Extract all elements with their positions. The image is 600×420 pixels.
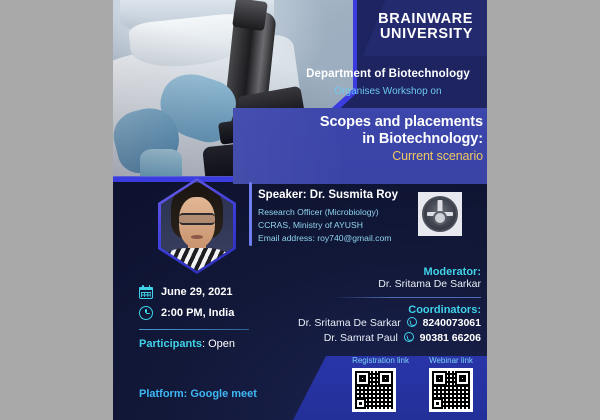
speaker-name: Speaker: Dr. Susmita Roy bbox=[258, 189, 398, 201]
screenshot-canvas: BRAINWARE UNIVERSITY Department of Biote… bbox=[0, 0, 600, 420]
registration-link[interactable]: Registration link bbox=[352, 356, 409, 412]
links-area: Registration link Webinar link bbox=[352, 356, 473, 412]
schedule-block: June 29, 2021 2:00 PM, India Participant… bbox=[139, 285, 299, 350]
speaker-email: Email address: roy740@gmail.com bbox=[258, 232, 391, 245]
title-line-2: in Biotechnology: bbox=[362, 131, 483, 147]
title-subtitle: Current scenario bbox=[273, 149, 483, 164]
organisers-block: Moderator: Dr. Sritama De Sarkar Coordin… bbox=[273, 266, 481, 346]
workshop-title: Scopes and placements in Biotechnology: … bbox=[273, 114, 483, 164]
phone-icon bbox=[407, 317, 417, 327]
speaker-accent-bar bbox=[249, 182, 252, 246]
participants-divider bbox=[139, 329, 249, 330]
platform-text: Platform: Google meet bbox=[139, 388, 257, 400]
registration-link-caption: Registration link bbox=[352, 356, 409, 365]
ccras-emblem-icon bbox=[418, 192, 462, 236]
speaker-designation: Research Officer (Microbiology) bbox=[258, 206, 391, 219]
speaker-affiliation: CCRAS, Ministry of AYUSH bbox=[258, 219, 391, 232]
speaker-details: Research Officer (Microbiology) CCRAS, M… bbox=[258, 206, 391, 245]
moderator-name: Dr. Sritama De Sarkar bbox=[273, 278, 481, 290]
clock-icon bbox=[139, 306, 153, 320]
phone-icon bbox=[404, 332, 414, 342]
speaker-photo bbox=[158, 178, 236, 274]
organises-subtitle: Organises Workshop on bbox=[293, 86, 483, 97]
event-time: 2:00 PM, India bbox=[161, 307, 234, 319]
participants-label: Participants bbox=[139, 338, 202, 350]
coordinator-row: Dr. Sritama De Sarkar 8240073061 bbox=[273, 316, 481, 331]
department-title: Department of Biotechnology bbox=[293, 68, 483, 80]
coordinator-name: Dr. Sritama De Sarkar bbox=[298, 317, 401, 329]
webinar-link-caption: Webinar link bbox=[429, 356, 473, 365]
date-row: June 29, 2021 bbox=[139, 285, 299, 299]
registration-qr-code-icon[interactable] bbox=[352, 368, 396, 412]
webinar-qr-code-icon[interactable] bbox=[429, 368, 473, 412]
brand-line-1: BRAINWARE bbox=[378, 12, 473, 27]
calendar-icon bbox=[139, 285, 153, 299]
brand-line-2: UNIVERSITY bbox=[378, 27, 473, 42]
coordinator-row: Dr. Samrat Paul 90381 66206 bbox=[273, 331, 481, 346]
workshop-poster: BRAINWARE UNIVERSITY Department of Biote… bbox=[113, 0, 487, 420]
coordinator-phone: 8240073061 bbox=[423, 317, 481, 329]
participants-row: Participants: Open bbox=[139, 338, 299, 350]
coordinators-label: Coordinators: bbox=[273, 304, 481, 316]
event-date: June 29, 2021 bbox=[161, 286, 233, 298]
organisers-divider bbox=[331, 297, 481, 298]
university-logo: BRAINWARE UNIVERSITY bbox=[378, 12, 473, 41]
moderator-label: Moderator: bbox=[273, 266, 481, 278]
coordinator-phone: 90381 66206 bbox=[420, 332, 481, 344]
coordinator-name: Dr. Samrat Paul bbox=[324, 332, 398, 344]
webinar-link[interactable]: Webinar link bbox=[429, 356, 473, 412]
time-row: 2:00 PM, India bbox=[139, 306, 299, 320]
title-line-1: Scopes and placements bbox=[320, 114, 483, 130]
participants-value: Open bbox=[208, 338, 235, 350]
